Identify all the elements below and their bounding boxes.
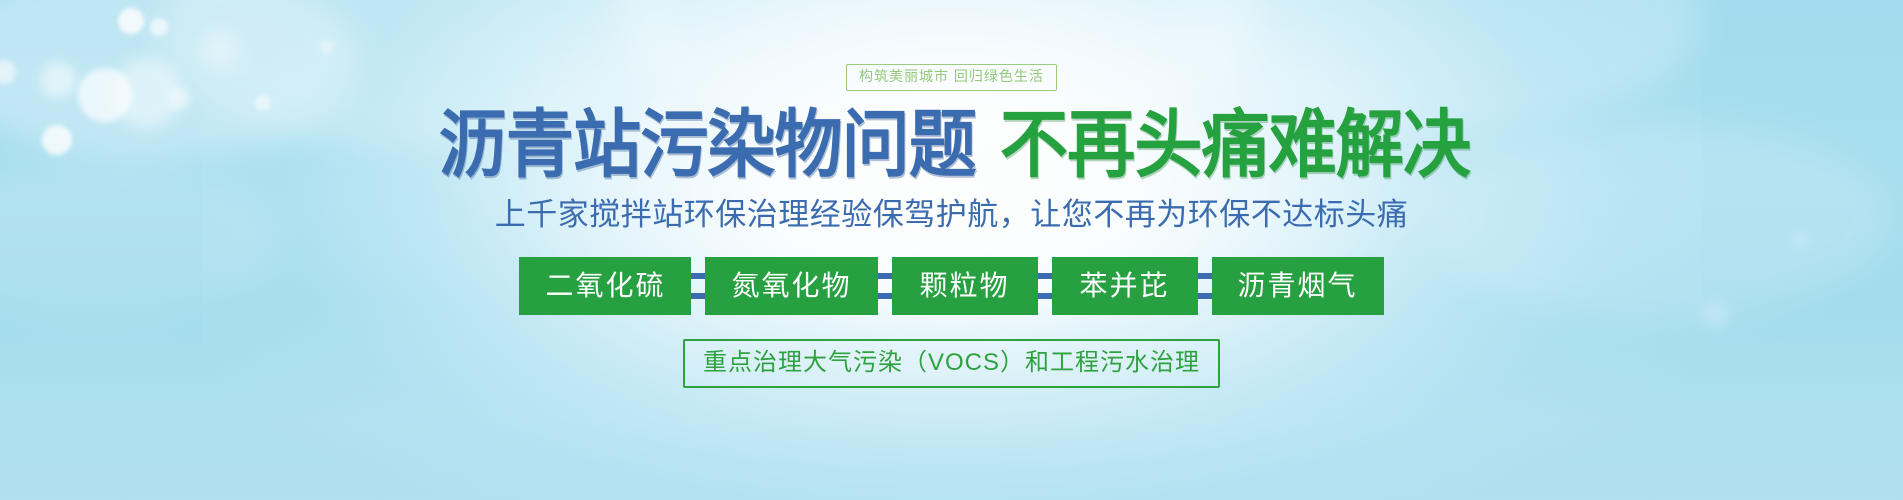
pollutant-tag[interactable]: 二氧化硫 xyxy=(519,257,691,315)
headline-part-blue: 沥青站污染物问题 xyxy=(439,108,976,182)
banner-note: 重点治理大气污染（VOCS）和工程污水治理 xyxy=(683,339,1220,389)
tag-separator xyxy=(1198,257,1212,315)
hero-banner: 构筑美丽城市 回归绿色生活 沥青站污染物问题 不再头痛难解决 上千家搅拌站环保治… xyxy=(0,0,1903,500)
banner-headline: 沥青站污染物问题 不再头痛难解决 xyxy=(392,108,1511,182)
dash-icon xyxy=(1038,293,1052,299)
dash-icon xyxy=(878,273,892,279)
dash-icon xyxy=(691,293,705,299)
tag-separator xyxy=(878,257,892,315)
pollutant-tag[interactable]: 氮氧化物 xyxy=(705,257,877,315)
dash-icon xyxy=(1198,273,1212,279)
dash-icon xyxy=(878,293,892,299)
pollutant-tag[interactable]: 颗粒物 xyxy=(892,257,1038,315)
dash-icon xyxy=(1198,293,1212,299)
headline-part-green: 不再头痛难解决 xyxy=(1000,108,1470,182)
tag-separator xyxy=(1038,257,1052,315)
pollutant-tag-row: 二氧化硫 氮氧化物 颗粒物 苯并芘 沥青烟气 xyxy=(519,257,1383,315)
banner-subtitle: 上千家搅拌站环保治理经验保驾护航，让您不再为环保不达标头痛 xyxy=(495,196,1409,233)
tag-separator xyxy=(691,257,705,315)
banner-tagline: 构筑美丽城市 回归绿色生活 xyxy=(846,64,1057,91)
dash-icon xyxy=(691,273,705,279)
dash-icon xyxy=(1038,273,1052,279)
banner-content: 构筑美丽城市 回归绿色生活 沥青站污染物问题 不再头痛难解决 上千家搅拌站环保治… xyxy=(0,0,1903,500)
pollutant-tag[interactable]: 苯并芘 xyxy=(1052,257,1198,315)
pollutant-tag[interactable]: 沥青烟气 xyxy=(1212,257,1384,315)
